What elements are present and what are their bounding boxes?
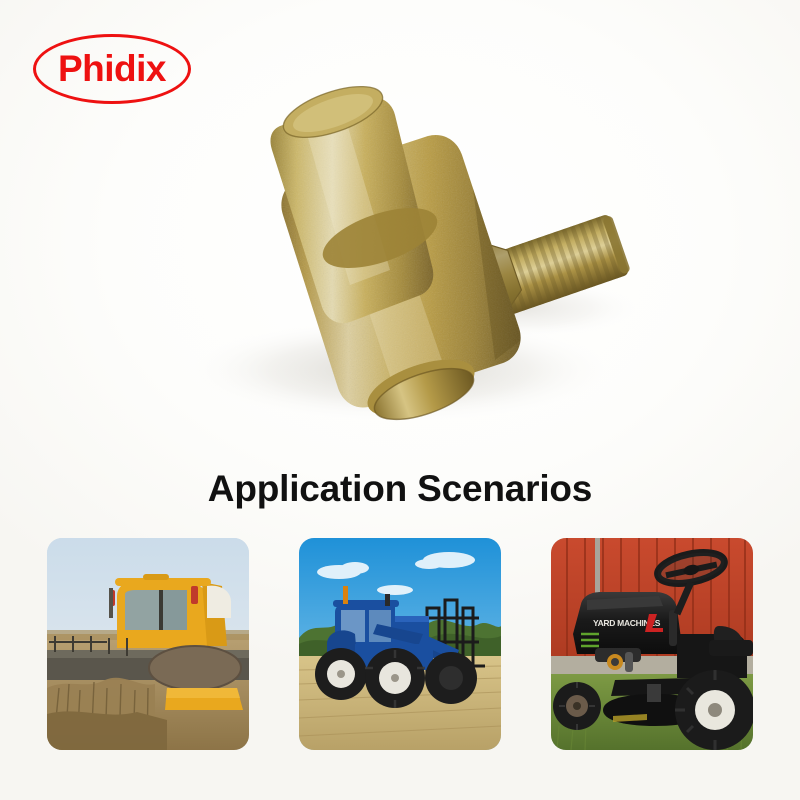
riding-lawn-mower-image: YARD MACHINES: [551, 538, 753, 750]
scenario-thumbnail-list: YARD MACHINES: [47, 538, 753, 750]
scenario-thumbnail-riding-lawn-mower[interactable]: YARD MACHINES: [551, 538, 753, 750]
tractor-front-loader-image: [299, 538, 501, 750]
combine-harvester-image: [47, 538, 249, 750]
product-hero-image: [0, 70, 800, 450]
scenario-thumbnail-tractor-front-loader[interactable]: [299, 538, 501, 750]
product-illustration: [0, 70, 800, 450]
scenario-thumbnail-combine-harvester[interactable]: [47, 538, 249, 750]
section-title: Application Scenarios: [0, 468, 800, 510]
product-marketing-page: Phidix: [0, 0, 800, 800]
